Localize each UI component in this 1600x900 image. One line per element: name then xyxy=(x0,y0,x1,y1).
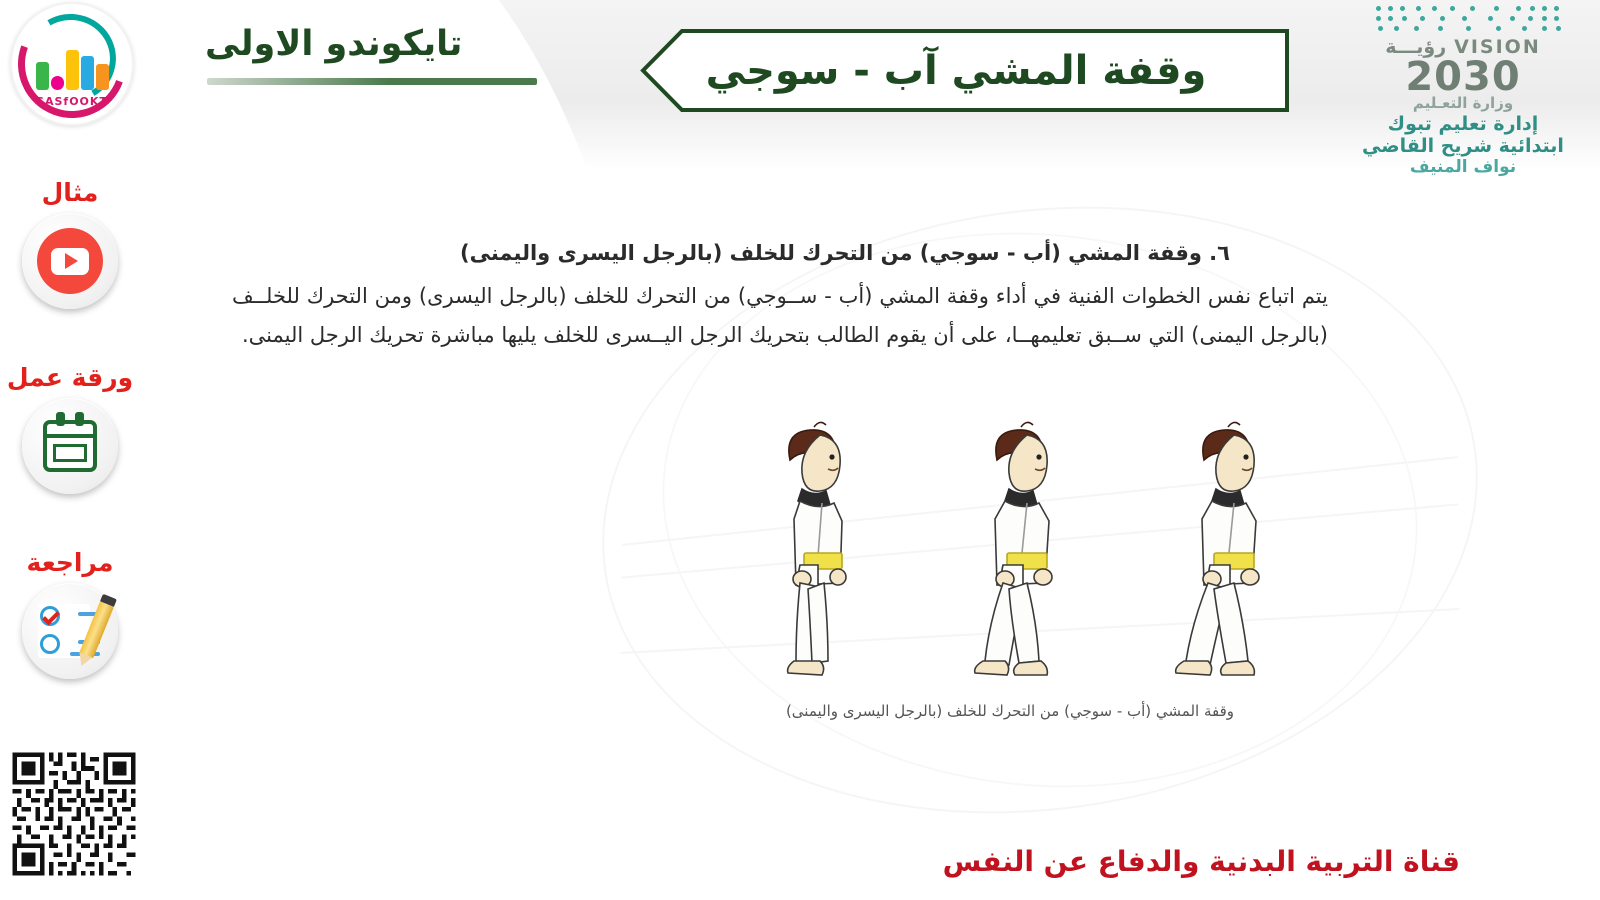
education-department-label: إدارة تعليم تبوك xyxy=(1338,113,1588,135)
youtube-icon xyxy=(37,228,103,294)
student-walking-stance-3 xyxy=(728,405,878,680)
sidebar-label-review: مراجعة xyxy=(0,550,140,575)
student-walking-stance-2 xyxy=(935,405,1085,680)
vision-number: 2030 xyxy=(1338,58,1588,96)
sidebar-item-review[interactable]: مراجعة xyxy=(0,550,140,735)
vision-2030-block: VISION رؤيـــة 2030 وزارة التعـليم إدارة… xyxy=(1338,4,1588,177)
figure-illustrations xyxy=(700,400,1320,680)
example-video-button[interactable] xyxy=(22,213,118,309)
slide-title: وقفة المشي آب - سوجي xyxy=(640,28,1290,113)
teacher-name-label: نواف المنيف xyxy=(1338,157,1588,177)
subject-title: تايكوندو الاولى xyxy=(205,24,535,64)
student-walking-stance-1 xyxy=(1142,405,1292,680)
clipboard-icon xyxy=(43,420,97,472)
figure-caption: وقفة المشي (أب - سوجي) من التحرك للخلف (… xyxy=(640,702,1380,720)
logo-people-icon xyxy=(34,30,110,90)
ministry-label: وزارة التعـليم xyxy=(1338,94,1588,112)
slide-root: SASfOOKT تايكوندو الاولى وقفة المشي آب -… xyxy=(0,0,1600,900)
sidebar-item-example[interactable]: مثال xyxy=(0,180,140,365)
vision-dots-pattern xyxy=(1338,4,1588,34)
subject-title-underline xyxy=(207,78,537,85)
sidebar-label-example: مثال xyxy=(0,180,140,205)
lesson-heading: ٦. وقفة المشي (أب - سوجي) من التحرك للخل… xyxy=(230,240,1340,267)
worksheet-button[interactable] xyxy=(22,398,118,494)
school-logo: SASfOOKT xyxy=(10,2,134,126)
lesson-body-text: يتم اتباع نفس الخطوات الفنية في أداء وقف… xyxy=(230,277,1340,355)
review-checklist-icon xyxy=(38,600,102,662)
school-name-label: ابتدائية شريح القاضي xyxy=(1338,135,1588,157)
lesson-content: ٦. وقفة المشي (أب - سوجي) من التحرك للخل… xyxy=(230,240,1340,355)
logo-brand-text: SASfOOKT xyxy=(12,95,132,108)
left-sidebar: مثال ورقة عمل مراجعة xyxy=(0,180,140,735)
review-button[interactable] xyxy=(22,583,118,679)
qr-code[interactable] xyxy=(8,748,140,880)
channel-name: قناة التربية البدنية والدفاع عن النفس xyxy=(943,845,1460,878)
sidebar-label-worksheet: ورقة عمل xyxy=(0,365,140,390)
slide-title-banner: وقفة المشي آب - سوجي xyxy=(640,28,1290,113)
sidebar-item-worksheet[interactable]: ورقة عمل xyxy=(0,365,140,550)
